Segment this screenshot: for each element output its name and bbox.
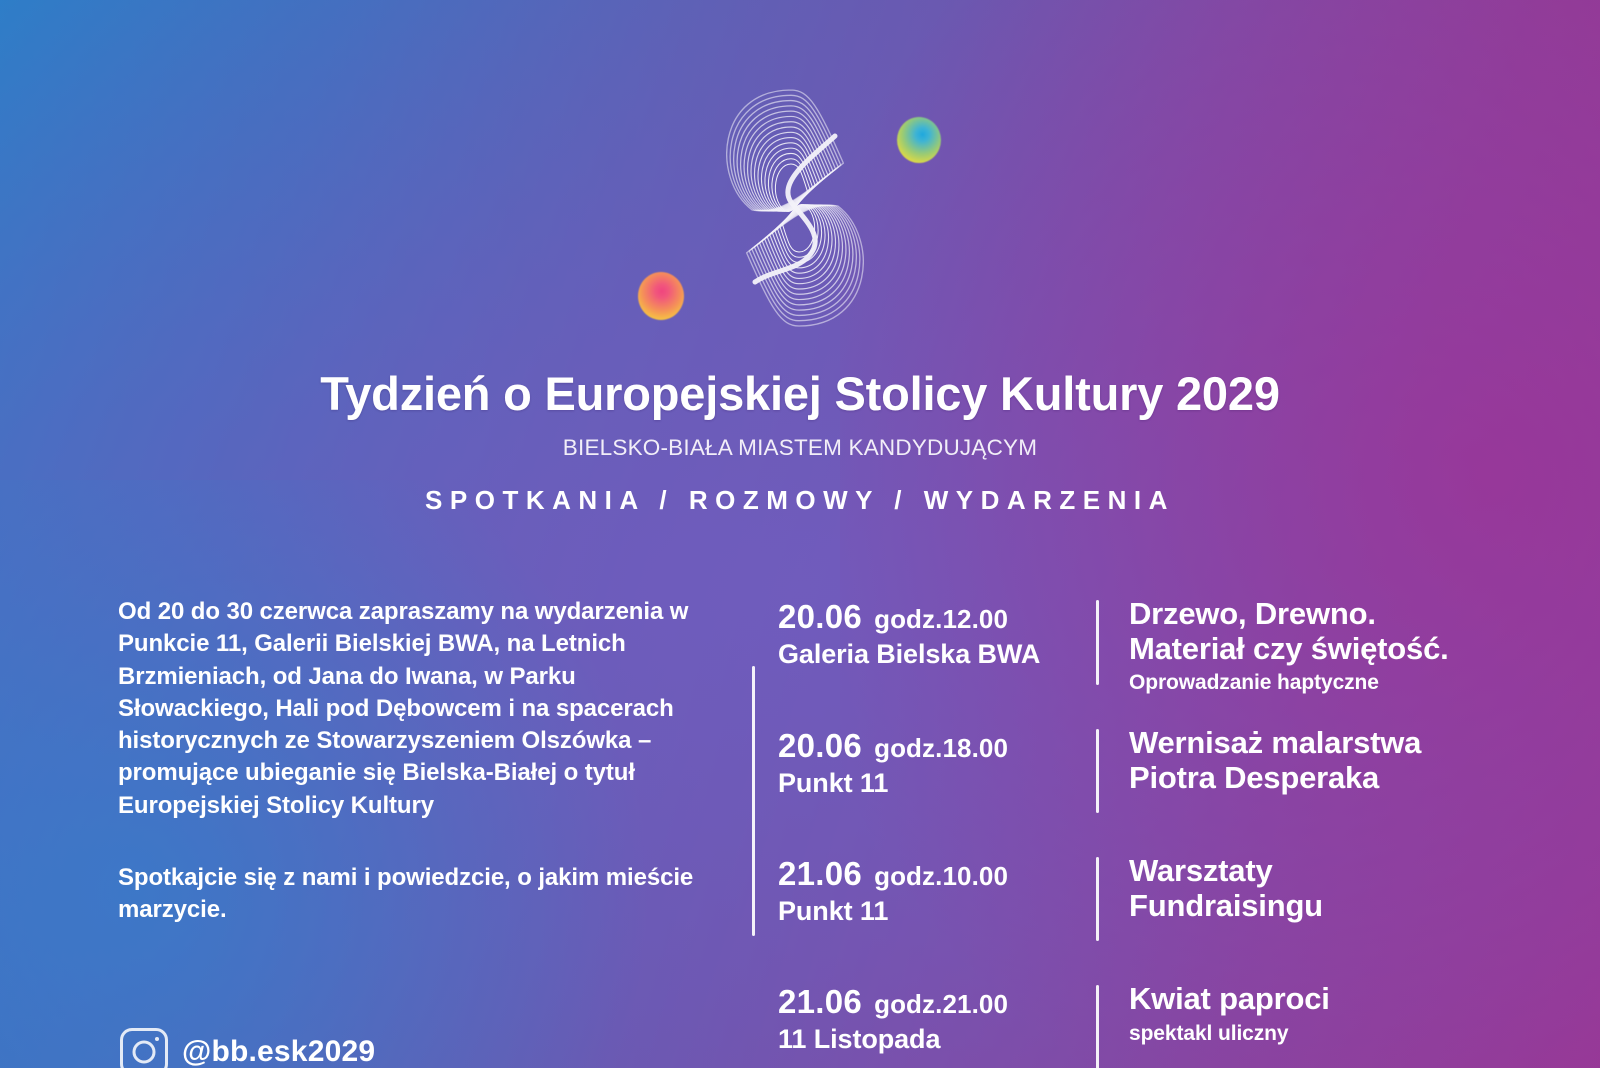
- description-block: Od 20 do 30 czerwca zapraszamy na wydarz…: [118, 596, 718, 926]
- event-datetime: 21.06godz.10.00: [778, 855, 1096, 893]
- event-time: godz.10.00: [874, 861, 1008, 892]
- event-when: 20.06godz.12.00Galeria Bielska BWA: [778, 596, 1096, 670]
- event-place: Punkt 11: [778, 768, 1096, 799]
- event-title: Wernisaż malarstwaPiotra Desperaka: [1129, 726, 1542, 795]
- event-divider: [1096, 985, 1099, 1068]
- event-date: 20.06: [778, 598, 862, 636]
- event-divider: [1096, 857, 1099, 941]
- event-when: 20.06godz.18.00Punkt 11: [778, 725, 1096, 799]
- social-handle-text: @bb.esk2029: [182, 1035, 375, 1068]
- event-what: Kwiat paprocispektakl uliczny: [1129, 981, 1542, 1046]
- headline-block: Tydzień o Europejskiej Stolicy Kultury 2…: [0, 370, 1600, 516]
- program-list: 20.06godz.12.00Galeria Bielska BWADrzewo…: [752, 596, 1542, 1068]
- event-title: Drzewo, Drewno.Materiał czy świętość.: [1129, 597, 1542, 666]
- event-subtitle: spektakl uliczny: [1129, 1022, 1542, 1046]
- event-row: 21.06godz.10.00Punkt 11WarsztatyFundrais…: [752, 853, 1542, 951]
- social-handle[interactable]: @bb.esk2029: [120, 1028, 375, 1068]
- event-datetime: 20.06godz.18.00: [778, 727, 1096, 765]
- event-title: Kwiat paproci: [1129, 982, 1542, 1017]
- page-subtitle: BIELSKO-BIAŁA MIASTEM KANDYDUJĄCYM: [0, 435, 1600, 461]
- event-date: 21.06: [778, 855, 862, 893]
- event-divider: [1096, 729, 1099, 813]
- description-paragraph-2: Spotkajcie się z nami i powiedzcie, o ja…: [118, 862, 718, 927]
- event-datetime: 20.06godz.12.00: [778, 598, 1096, 636]
- description-paragraph-1: Od 20 do 30 czerwca zapraszamy na wydarz…: [118, 596, 718, 822]
- event-what: Wernisaż malarstwaPiotra Desperaka: [1129, 725, 1542, 795]
- event-when: 21.06godz.10.00Punkt 11: [778, 853, 1096, 927]
- event-row: 20.06godz.18.00Punkt 11Wernisaż malarstw…: [752, 725, 1542, 823]
- event-date: 21.06: [778, 983, 862, 1021]
- event-divider: [1096, 600, 1099, 685]
- event-subtitle: Oprowadzanie haptyczne: [1129, 671, 1542, 695]
- event-title: WarsztatyFundraisingu: [1129, 854, 1542, 923]
- event-time: godz.18.00: [874, 733, 1008, 764]
- event-place: Punkt 11: [778, 896, 1096, 927]
- page-tagline: SPOTKANIA / ROZMOWY / WYDARZENIA: [0, 485, 1600, 516]
- instagram-icon: [120, 1028, 168, 1068]
- pink-yellow-dot: [638, 272, 684, 320]
- event-row: 21.06godz.21.0011 ListopadaKwiat paproci…: [752, 981, 1542, 1068]
- page-title: Tydzień o Europejskiej Stolicy Kultury 2…: [0, 370, 1600, 417]
- event-date: 20.06: [778, 727, 862, 765]
- event-what: WarsztatyFundraisingu: [1129, 853, 1542, 923]
- esk-spiral-logo: [695, 78, 895, 338]
- cyan-yellow-dot: [897, 117, 941, 163]
- event-datetime: 21.06godz.21.00: [778, 983, 1096, 1021]
- event-when: 21.06godz.21.0011 Listopada: [778, 981, 1096, 1055]
- event-row: 20.06godz.12.00Galeria Bielska BWADrzewo…: [752, 596, 1542, 695]
- event-what: Drzewo, Drewno.Materiał czy świętość.Opr…: [1129, 596, 1542, 695]
- event-time: godz.21.00: [874, 989, 1008, 1020]
- event-time: godz.12.00: [874, 604, 1008, 635]
- event-place: Galeria Bielska BWA: [778, 639, 1096, 670]
- poster-canvas: Tydzień o Europejskiej Stolicy Kultury 2…: [0, 0, 1600, 1068]
- event-place: 11 Listopada: [778, 1024, 1096, 1055]
